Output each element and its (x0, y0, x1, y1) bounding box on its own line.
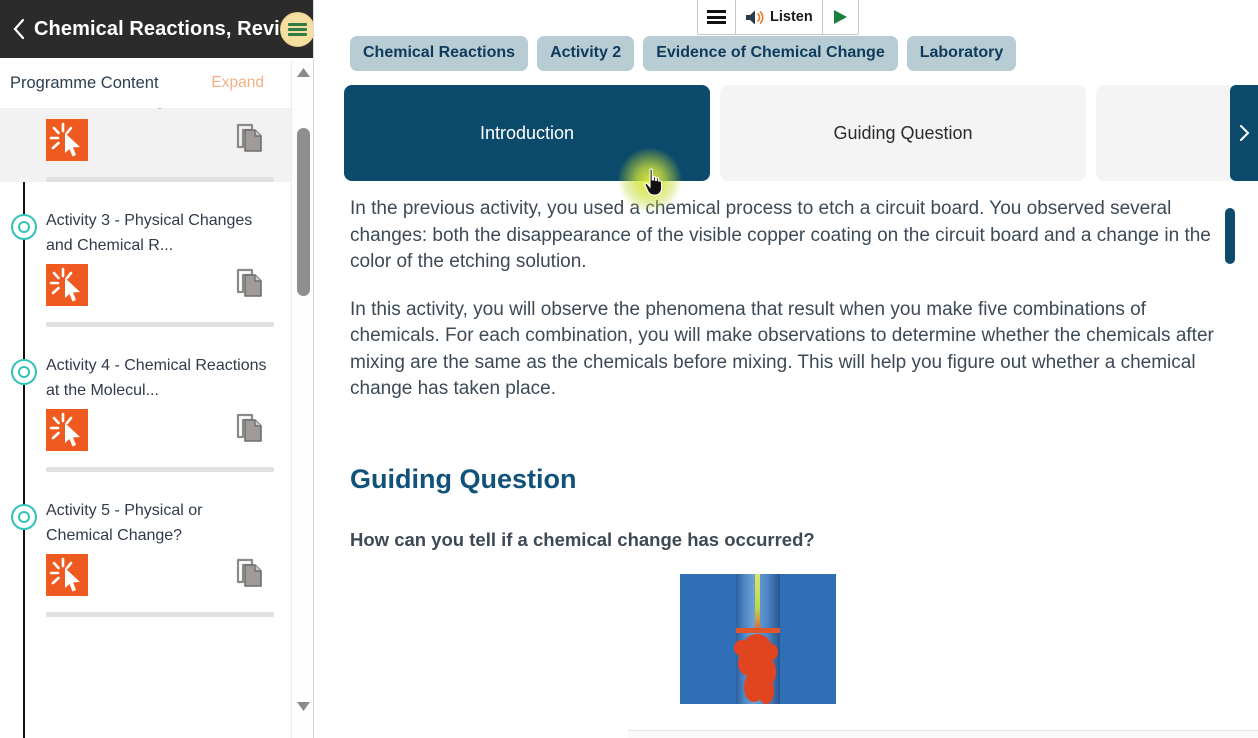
list-item-divider (46, 322, 274, 327)
programme-content-row: Programme Content Expand (0, 58, 292, 108)
breadcrumb-item[interactable]: Evidence of Chemical Change (643, 36, 898, 71)
duplicate-pages-icon[interactable] (234, 557, 266, 589)
tab-guiding-question[interactable]: Guiding Question (720, 85, 1086, 181)
test-tube-reaction-photo (680, 574, 836, 704)
list-item[interactable]: Chemical Change (0, 108, 292, 182)
list-item-icons (46, 264, 292, 320)
reaction-blob (758, 678, 774, 704)
sidebar-panel: Chemical Reactions, Revis... Programme C… (0, 0, 314, 738)
scroll-up-button[interactable] (292, 62, 314, 82)
listen-label: Listen (770, 9, 813, 25)
tab-guiding-question-label: Guiding Question (833, 123, 972, 144)
list-item-divider (46, 177, 274, 182)
list-item-title[interactable]: Activity 4 - Chemical Reactions at the M… (46, 351, 292, 403)
click-cursor-icon[interactable] (46, 409, 88, 451)
list-item-icons (46, 554, 292, 610)
chevron-right-icon (1239, 124, 1250, 142)
listen-toolbar: Listen (697, 0, 859, 35)
paragraph-2: In this activity, you will observe the p… (350, 297, 1216, 403)
breadcrumb-item[interactable]: Laboratory (907, 36, 1017, 71)
click-cursor-icon[interactable] (46, 119, 88, 161)
list-item-title[interactable]: Chemical Change (46, 108, 292, 113)
body-text: In the previous activity, you used a che… (350, 196, 1216, 424)
duplicate-pages-icon[interactable] (234, 122, 266, 154)
list-item-title[interactable]: Activity 3 - Physical Changes and Chemic… (46, 206, 292, 258)
sidebar-menu-button[interactable] (280, 12, 314, 47)
circle-ring-icon (11, 504, 37, 530)
pouring-stream (755, 574, 760, 630)
list-items-container: Chemical ChangeActivity 3 - Physical Cha… (0, 108, 292, 617)
expand-link[interactable]: Expand (211, 74, 264, 92)
list-item-title[interactable]: Activity 5 - Physical or Chemical Change… (46, 496, 292, 548)
bottom-edge-bar (628, 730, 1258, 738)
hamburger-menu-icon (288, 20, 307, 38)
triangle-down-icon (297, 702, 310, 711)
tab-scroll-next-button[interactable] (1230, 85, 1258, 181)
sidebar-header: Chemical Reactions, Revis... (0, 0, 314, 58)
back-button[interactable] (8, 16, 30, 42)
breadcrumb: Chemical ReactionsActivity 2Evidence of … (350, 36, 1016, 71)
list-item-divider (46, 612, 274, 617)
tab-introduction-label: Introduction (480, 123, 574, 144)
guiding-question-text: How can you tell if a chemical change ha… (350, 529, 815, 551)
duplicate-pages-icon[interactable] (234, 412, 266, 444)
speaker-waves-icon (745, 9, 765, 26)
click-cursor-icon[interactable] (46, 264, 88, 306)
duplicate-pages-icon[interactable] (234, 267, 266, 299)
list-item-divider (46, 467, 274, 472)
click-cursor-icon[interactable] (46, 554, 88, 596)
tab-next-partial[interactable] (1096, 85, 1238, 181)
section-tab-bar: Introduction Guiding Question (344, 85, 1238, 181)
application-root: Chemical Reactions, Revis... Programme C… (0, 0, 1258, 738)
list-item-icons (46, 409, 292, 465)
guiding-question-heading: Guiding Question (350, 464, 576, 495)
sidebar-scrollbar[interactable] (291, 60, 313, 738)
main-content: Listen Chemical ReactionsActivity 2Evide… (314, 0, 1258, 738)
hamburger-menu-icon (707, 8, 726, 27)
breadcrumb-item[interactable]: Chemical Reactions (350, 36, 528, 71)
play-button[interactable] (823, 0, 858, 34)
splash-line (736, 628, 780, 633)
programme-content-label: Programme Content (10, 74, 211, 93)
circle-ring-icon (11, 359, 37, 385)
play-triangle-icon (832, 9, 849, 25)
circle-ring-icon (11, 214, 37, 240)
breadcrumb-item[interactable]: Activity 2 (537, 36, 634, 71)
content-scroll-thumb[interactable] (1225, 208, 1235, 264)
listen-menu-button[interactable] (698, 0, 736, 34)
chevron-left-icon (12, 18, 26, 40)
programme-content-list: Chemical ChangeActivity 3 - Physical Cha… (0, 108, 292, 738)
list-item-icons (46, 119, 292, 175)
sidebar-scroll-thumb[interactable] (297, 128, 310, 296)
list-item[interactable]: Activity 4 - Chemical Reactions at the M… (0, 351, 292, 472)
list-item[interactable]: Activity 3 - Physical Changes and Chemic… (0, 206, 292, 327)
list-item[interactable]: Activity 5 - Physical or Chemical Change… (0, 496, 292, 617)
paragraph-1: In the previous activity, you used a che… (350, 196, 1216, 276)
listen-button[interactable]: Listen (736, 0, 823, 34)
triangle-up-icon (297, 68, 310, 77)
tab-introduction[interactable]: Introduction (344, 85, 710, 181)
scroll-down-button[interactable] (292, 696, 314, 716)
page-title: Chemical Reactions, Revis... (34, 18, 308, 41)
